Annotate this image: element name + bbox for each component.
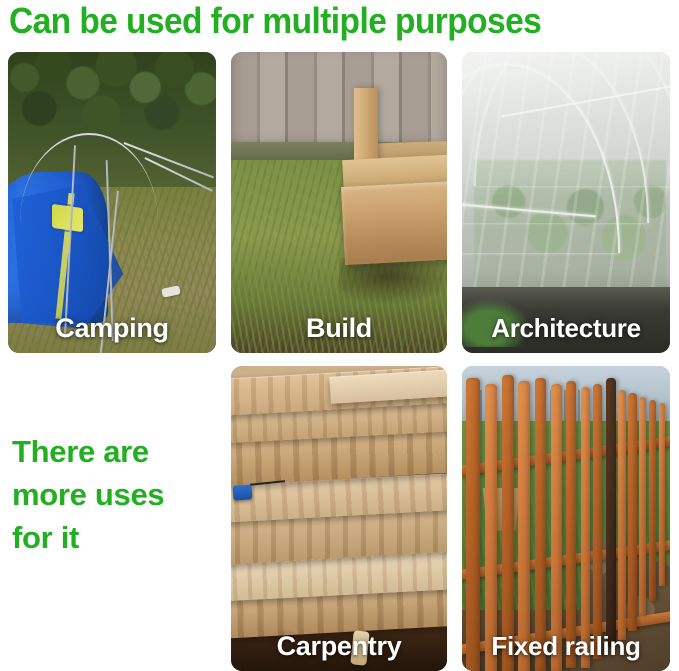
tile-architecture[interactable]: Architecture [462,52,670,353]
carpentry-photo [231,366,447,671]
tile-carpentry[interactable]: Carpentry [231,366,447,671]
fixed-railing-photo [462,366,670,671]
picket-8 [581,387,590,668]
side-note-line-1: There are [12,430,212,473]
side-note: There are more uses for it [12,430,212,559]
picket-10-dark [606,378,616,646]
tile-camping[interactable]: Camping [8,52,216,353]
tile-caption: Architecture [462,313,670,344]
picket-7 [566,381,576,668]
tile-caption: Camping [8,313,216,344]
picket-2 [485,384,497,671]
tile-caption: Fixed railing [462,631,670,662]
picket-14 [649,400,656,601]
picket-11 [618,390,626,640]
weathered-fence [231,52,447,154]
tile-caption: Carpentry [231,631,447,662]
timber-side-board [341,181,447,265]
tile-fixed-railing[interactable]: Fixed railing [462,366,670,671]
camping-photo [8,52,216,353]
side-note-line-3: for it [12,516,212,559]
use-case-tile-grid: Camping Build Architecture [0,52,679,671]
picket-3 [502,375,514,671]
picket-9 [593,384,602,659]
architecture-photo [462,52,670,353]
tile-build[interactable]: Build [231,52,447,353]
picket-15 [659,403,666,586]
picket-5 [535,378,546,671]
page-title: Can be used for multiple purposes [9,0,623,43]
picket-1 [466,378,480,671]
picket-6 [551,384,561,671]
tile-caption: Build [231,313,447,344]
build-photo [231,52,447,353]
picket-4 [518,381,529,671]
picket-12 [628,393,636,631]
picket-13 [639,397,646,617]
blue-tool [233,484,253,501]
side-note-line-2: more uses [12,473,212,516]
